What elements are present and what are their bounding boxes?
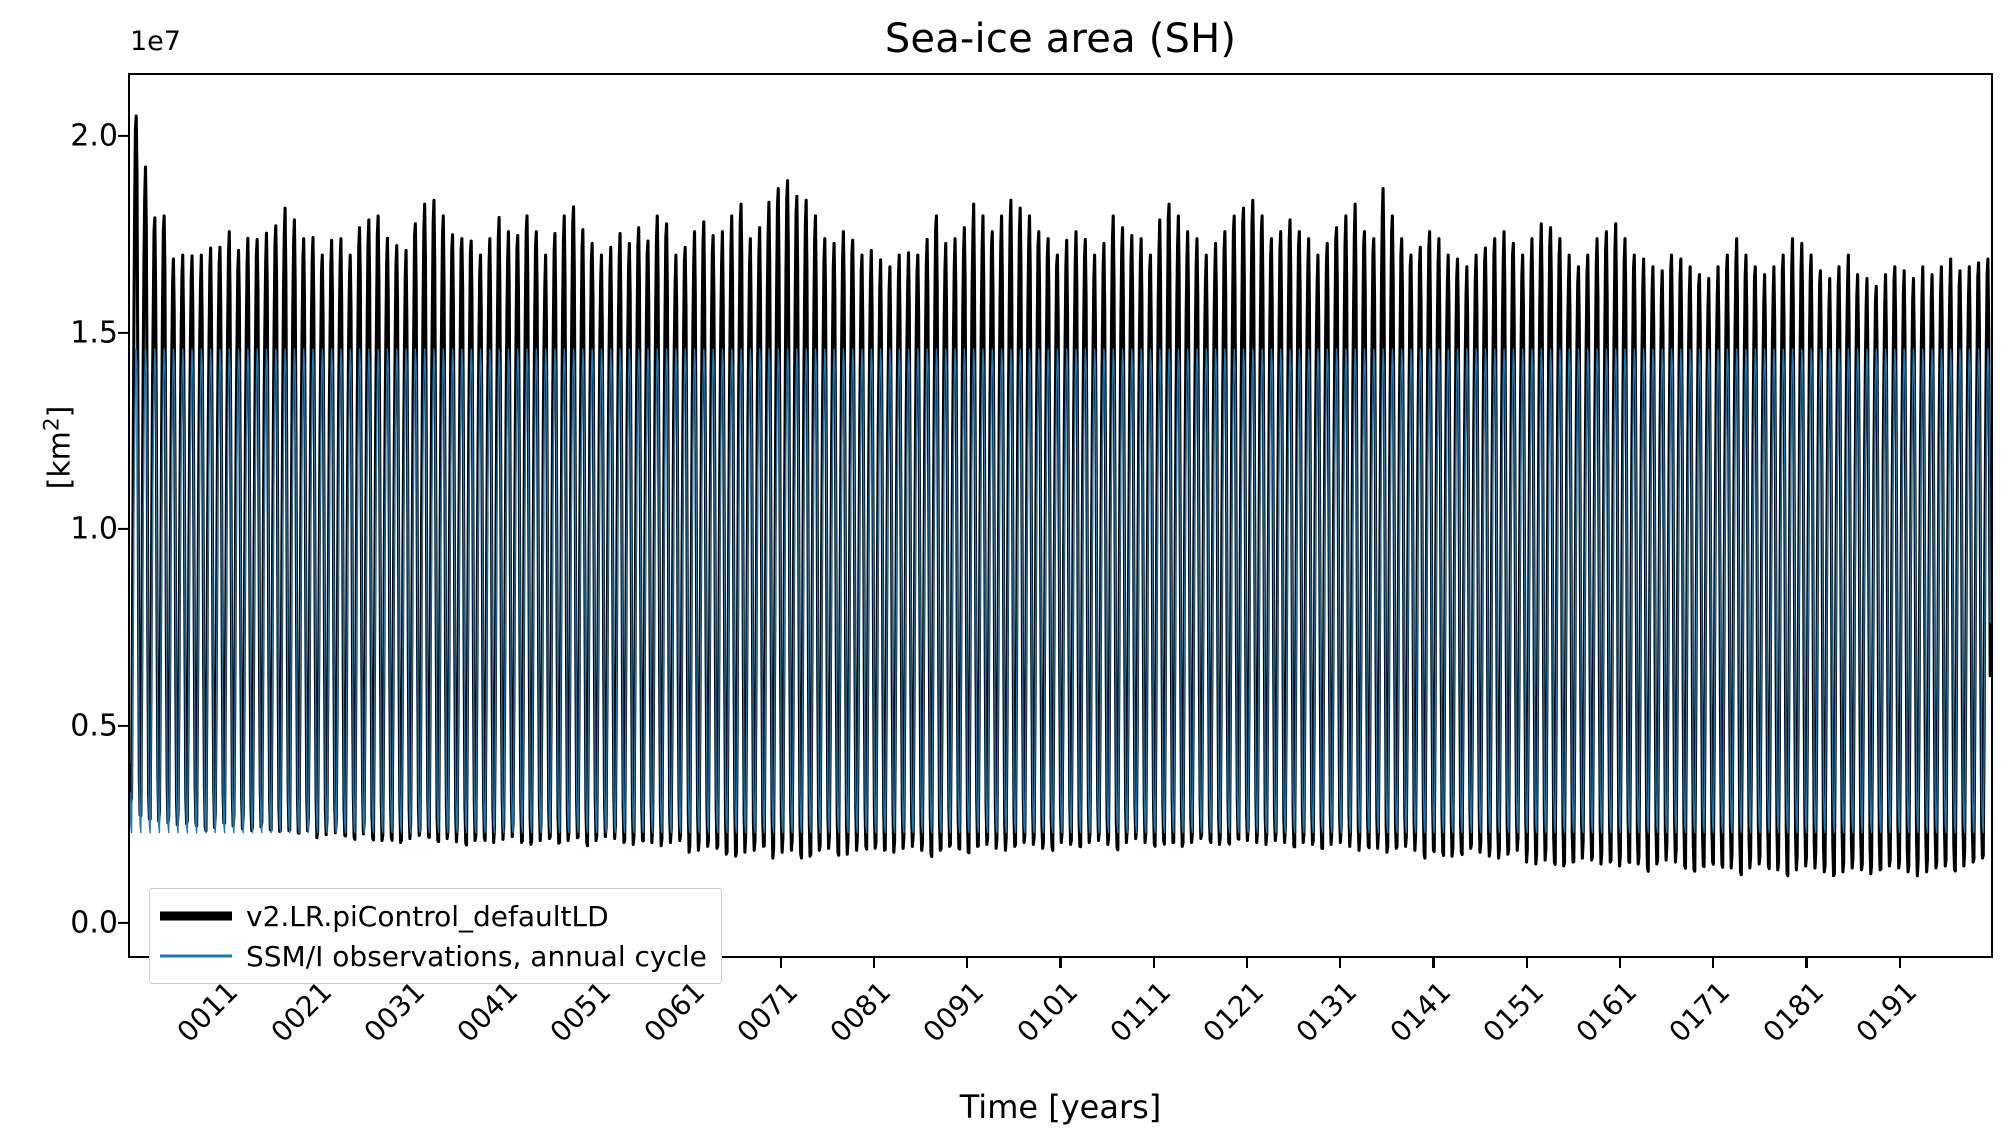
legend-label-model: v2.LR.piControl_defaultLD	[246, 900, 609, 933]
y-tick-mark	[118, 528, 128, 530]
x-tick-mark	[873, 958, 875, 968]
x-tick-mark	[1432, 958, 1434, 968]
x-tick-mark	[780, 958, 782, 968]
y-axis-tick-labels: 0.00.51.01.52.0	[20, 0, 118, 1141]
y-tick-mark	[118, 332, 128, 334]
x-tick-mark	[1246, 958, 1248, 968]
x-tick-mark	[1153, 958, 1155, 968]
legend-item-model[interactable]: v2.LR.piControl_defaultLD	[160, 899, 707, 933]
x-tick-mark	[1619, 958, 1621, 968]
y-tick-label: 0.5	[38, 708, 118, 743]
plot-axes-area	[128, 73, 1993, 958]
legend-label-observations: SSM/I observations, annual cycle	[246, 940, 707, 973]
y-tick-label: 1.5	[38, 315, 118, 350]
y-tick-mark	[118, 135, 128, 137]
y-axis-offset-text: 1e7	[130, 26, 181, 57]
x-tick-mark	[1059, 958, 1061, 968]
x-tick-mark	[1526, 958, 1528, 968]
plot-series-svg	[130, 75, 1991, 956]
y-tick-mark	[118, 725, 128, 727]
x-tick-mark	[1339, 958, 1341, 968]
x-axis-label: Time [years]	[128, 1088, 1993, 1126]
figure-canvas: Sea-ice area (SH) 1e7 [km2] 0.00.51.01.5…	[0, 0, 2013, 1141]
y-tick-label: 2.0	[38, 118, 118, 153]
legend-item-observations[interactable]: SSM/I observations, annual cycle	[160, 939, 707, 973]
y-tick-label: 0.0	[38, 905, 118, 940]
chart-legend[interactable]: v2.LR.piControl_defaultLD SSM/I observat…	[149, 888, 722, 984]
y-tick-mark	[118, 922, 128, 924]
x-tick-mark	[966, 958, 968, 968]
x-tick-mark	[1899, 958, 1901, 968]
x-tick-mark	[1805, 958, 1807, 968]
y-tick-label: 1.0	[38, 512, 118, 547]
chart-title: Sea-ice area (SH)	[128, 16, 1993, 62]
x-tick-mark	[1712, 958, 1714, 968]
